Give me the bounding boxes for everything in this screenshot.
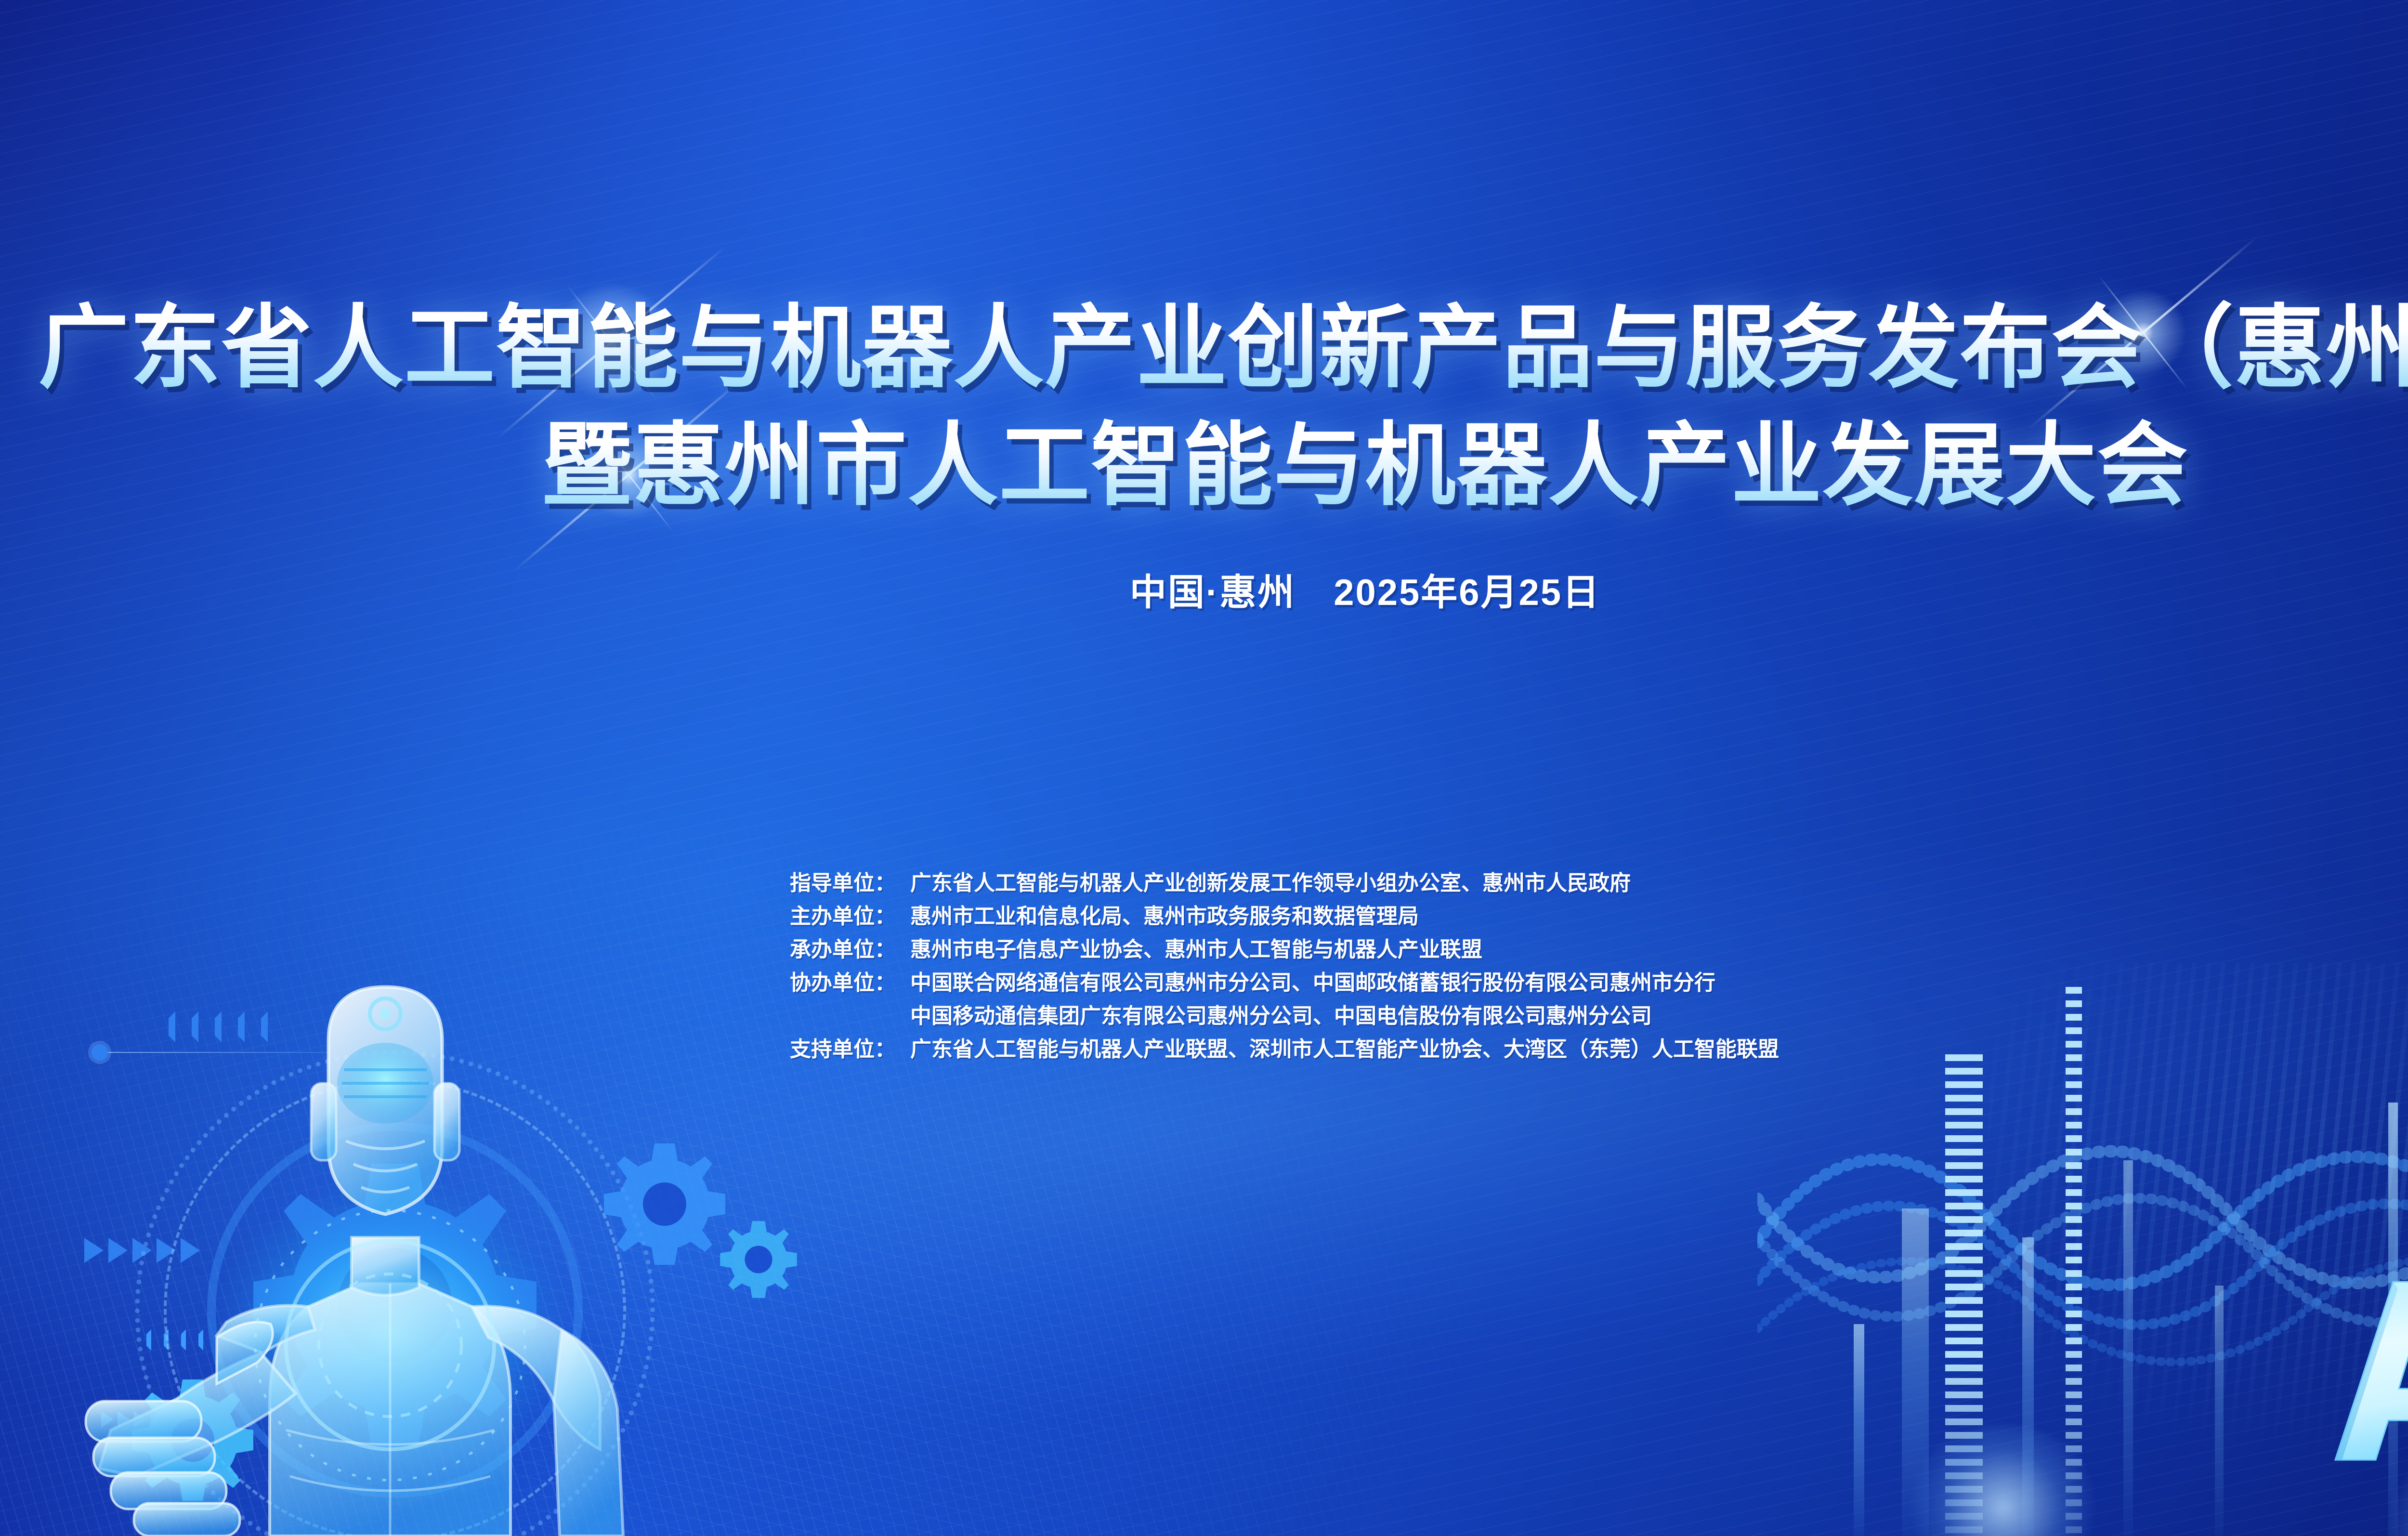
credit-row: 协办单位：中国联合网络通信有限公司惠州市分公司、中国邮政储蓄银行股份有限公司惠州… xyxy=(790,972,1779,994)
credit-row: 支持单位：广东省人工智能与机器人产业联盟、深圳市人工智能产业协会、大湾区（东莞）… xyxy=(790,1039,1779,1060)
conference-banner: 广东省人工智能与机器人产业创新产品与服务发布会（惠州专场） 暨惠州市人工智能与机… xyxy=(0,0,2408,1536)
credit-label: 承办单位： xyxy=(790,939,910,960)
credit-label: 主办单位： xyxy=(790,906,910,927)
bar-indicator xyxy=(2123,1160,2133,1536)
credit-label: 指导单位： xyxy=(790,873,910,894)
title-line-2: 暨惠州市人工智能与机器人产业发展大会 xyxy=(0,407,2408,524)
title-line-1: 广东省人工智能与机器人产业创新产品与服务发布会（惠州专场） xyxy=(0,289,2408,407)
credit-label: 协办单位： xyxy=(790,972,910,994)
gear-tiny-icon xyxy=(713,1214,804,1308)
humanoid-robot-illustration xyxy=(72,948,698,1536)
credit-value: 惠州市工业和信息化局、惠州市政务服务和数据管理局 xyxy=(910,906,1419,927)
credit-value: 广东省人工智能与机器人产业联盟、深圳市人工智能产业协会、大湾区（东莞）人工智能联… xyxy=(910,1039,1779,1060)
credit-value: 惠州市电子信息产业协会、惠州市人工智能与机器人产业联盟 xyxy=(910,939,1482,960)
credit-label: 支持单位： xyxy=(790,1039,910,1060)
credit-value: 广东省人工智能与机器人产业创新发展工作领导小组办公室、惠州市人民政府 xyxy=(910,873,1631,894)
credit-value: 中国移动通信集团广东有限公司惠州分公司、中国电信股份有限公司惠州分公司 xyxy=(910,1006,1652,1027)
credit-row: 承办单位：惠州市电子信息产业协会、惠州市人工智能与机器人产业联盟 xyxy=(790,939,1779,960)
credit-row: 主办单位：惠州市工业和信息化局、惠州市政务服务和数据管理局 xyxy=(790,906,1779,927)
ai-logo xyxy=(2321,1271,2408,1473)
credit-value: 中国联合网络通信有限公司惠州市分公司、中国邮政储蓄银行股份有限公司惠州市分行 xyxy=(910,972,1715,994)
credit-row: 协办单位：中国移动通信集团广东有限公司惠州分公司、中国电信股份有限公司惠州分公司 xyxy=(790,1006,1779,1027)
bar-indicator xyxy=(2215,1286,2224,1536)
event-location-date: 中国·惠州 2025年6月25日 xyxy=(0,563,2408,616)
data-visualization-decoration xyxy=(1815,934,2408,1536)
bar-indicator xyxy=(1854,1324,1864,1536)
headline-block: 广东省人工智能与机器人产业创新产品与服务发布会（惠州专场） 暨惠州市人工智能与机… xyxy=(0,289,2408,525)
organizer-credits: 指导单位：广东省人工智能与机器人产业创新发展工作领导小组办公室、惠州市人民政府主… xyxy=(790,873,1779,1072)
credit-row: 指导单位：广东省人工智能与机器人产业创新发展工作领导小组办公室、惠州市人民政府 xyxy=(790,873,1779,894)
